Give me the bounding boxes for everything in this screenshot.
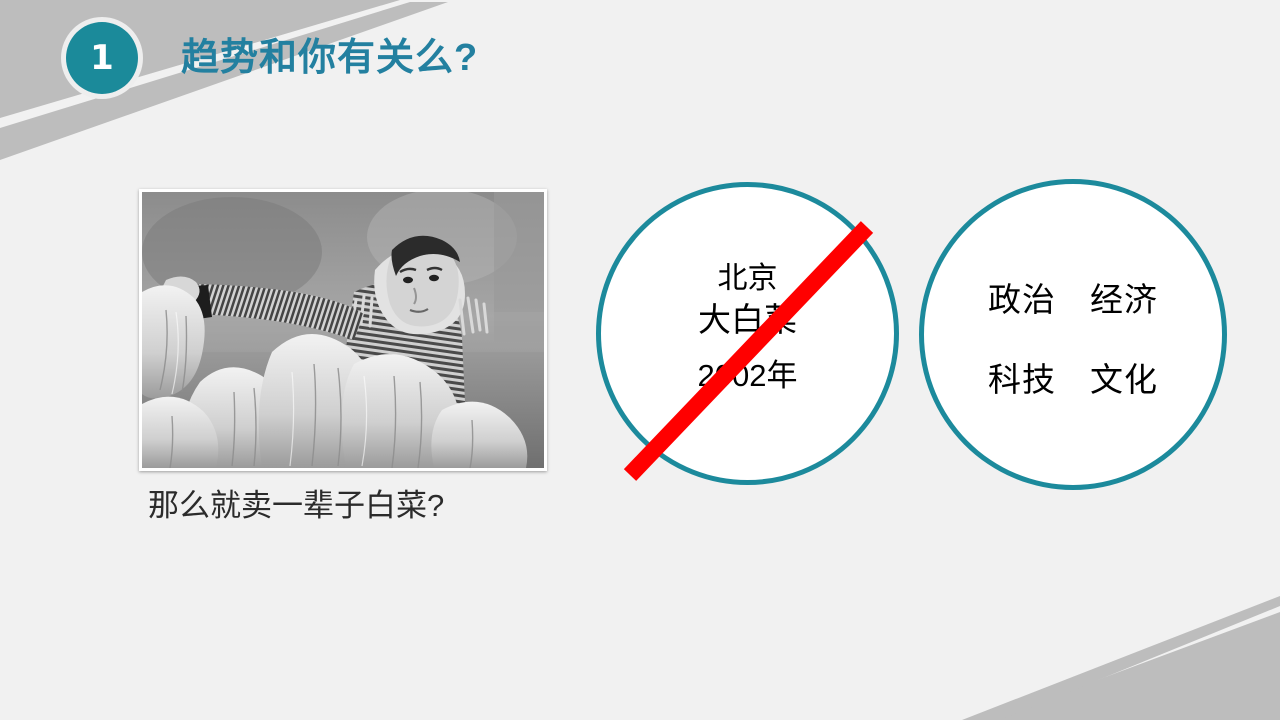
circle-left-line-3: 2002年 [601, 357, 894, 396]
circle-left-line-1: 北京 [601, 260, 894, 298]
slide-canvas: 1 趋势和你有关么? [0, 0, 1280, 720]
photo-caption: 那么就卖一辈子白菜? [148, 487, 548, 524]
concept-circle-old: 北京 大白菜 2002年 [596, 182, 899, 485]
slide-header: 1 趋势和你有关么? [0, 0, 1280, 115]
band-bottom-right-stripe [962, 596, 1280, 720]
section-number-label: 1 [90, 41, 114, 75]
photo-frame [139, 189, 547, 471]
circle-right-line-1: 政治 经济 [924, 279, 1222, 320]
concept-circle-new: 政治 经济 科技 文化 [919, 179, 1227, 490]
photo-illustration [142, 192, 544, 468]
circle-left-line-2: 大白菜 [601, 299, 894, 340]
band-bottom-right-wedge [990, 612, 1280, 720]
circle-right-line-2: 科技 文化 [924, 359, 1222, 400]
section-number-badge: 1 [66, 22, 138, 94]
page-title: 趋势和你有关么? [181, 36, 478, 82]
cabbage-vendor-photo [142, 192, 544, 468]
